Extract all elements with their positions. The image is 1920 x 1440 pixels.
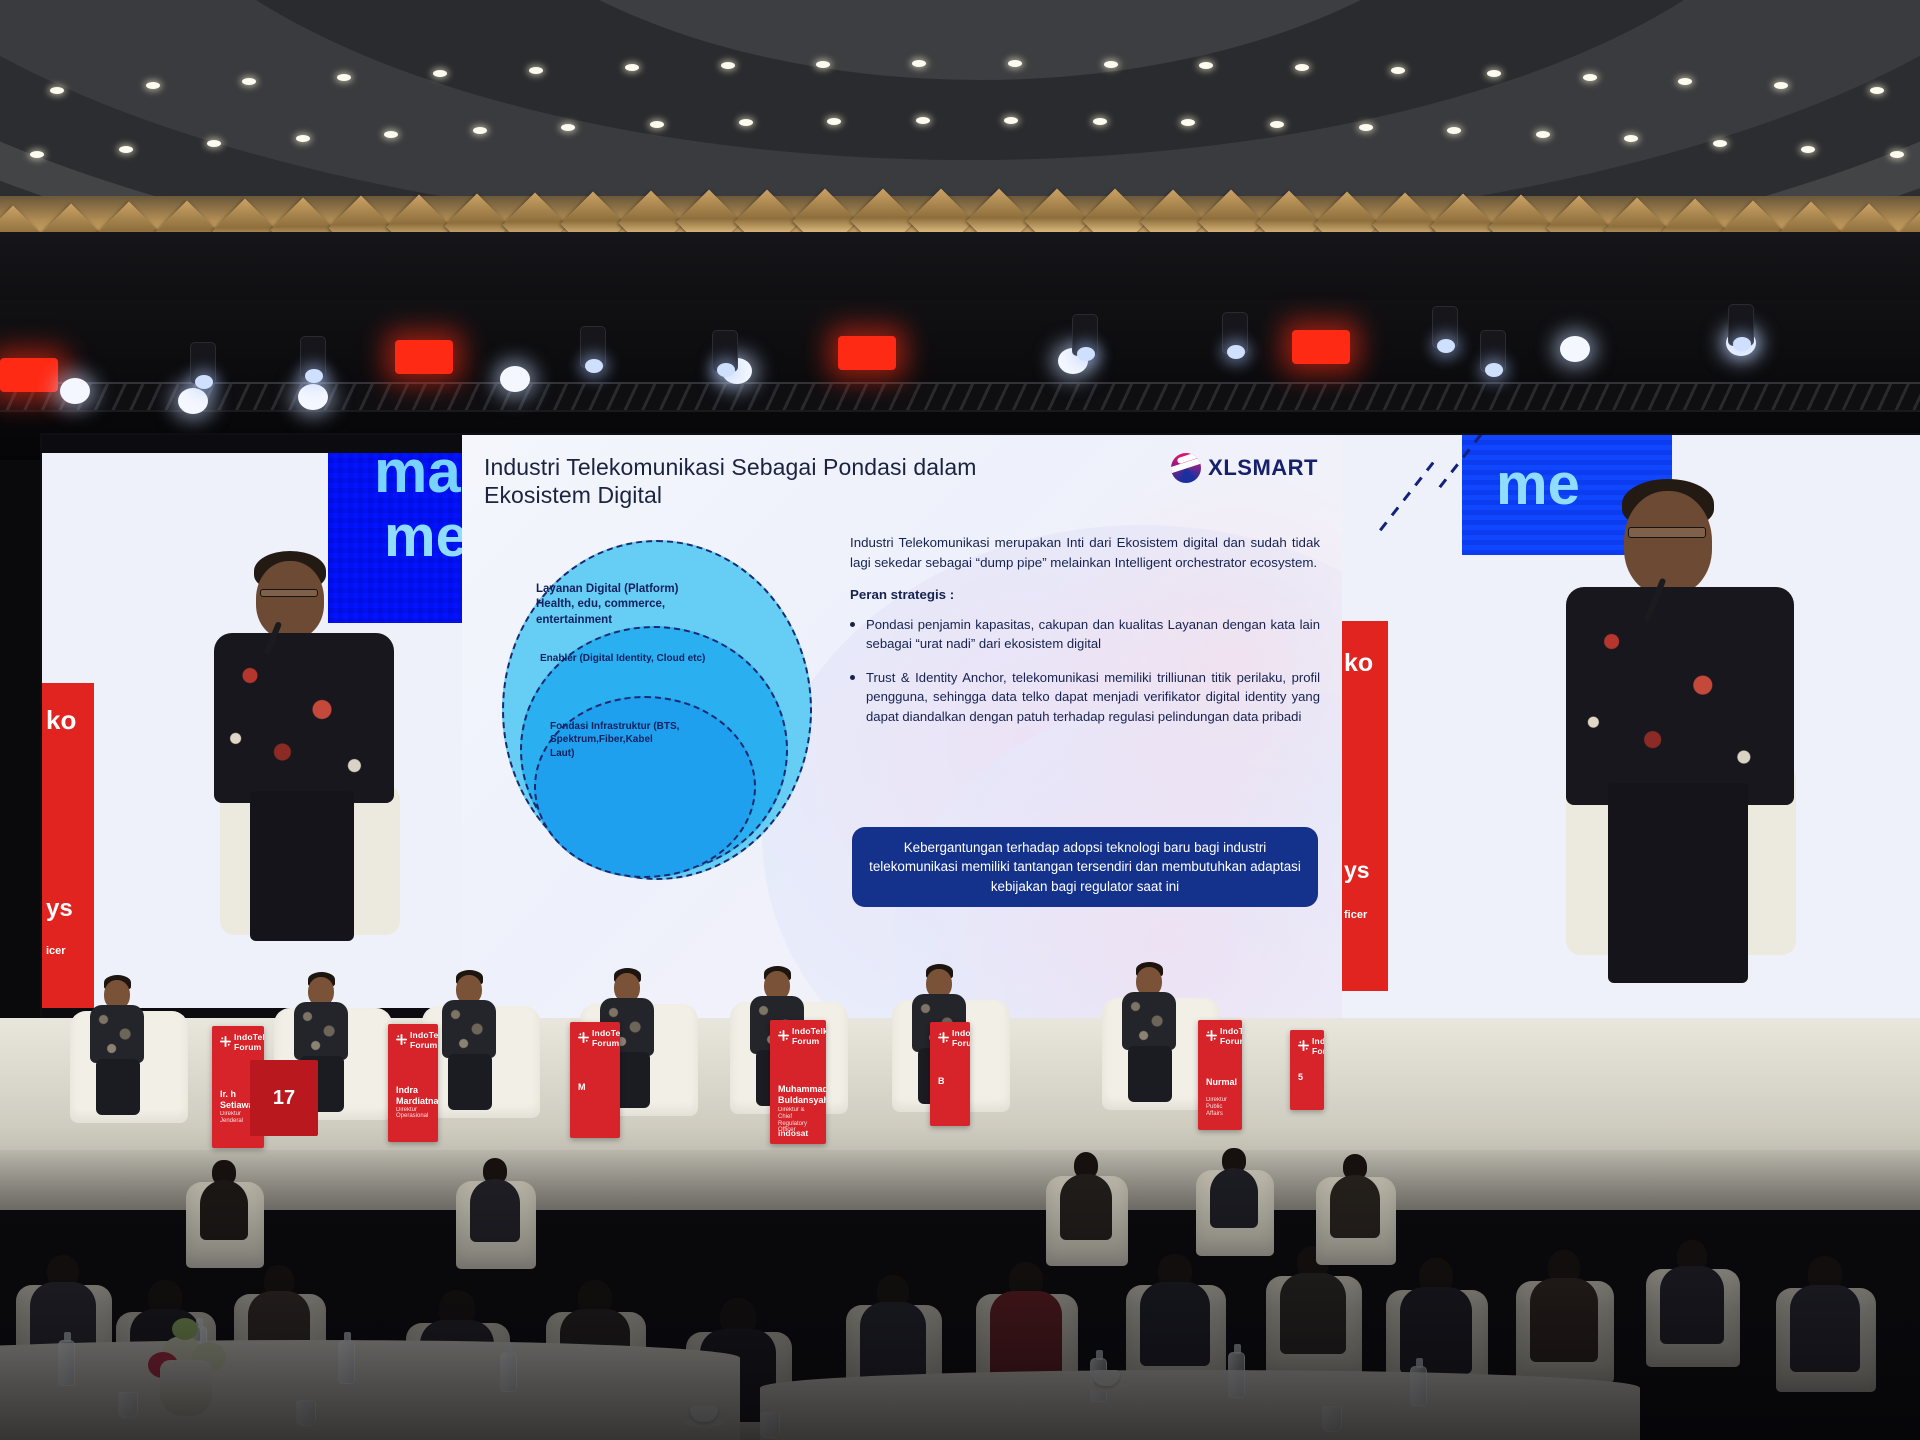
xlsmart-logo-text: XLSMART [1208, 455, 1318, 481]
moving-head-light [1072, 314, 1098, 356]
ceiling-downlight [529, 67, 543, 74]
bullet-dot-icon [850, 622, 855, 627]
par-can-white-light [298, 384, 328, 410]
foreground-shadow-overlay [0, 1150, 1920, 1440]
ceiling-downlight [625, 64, 639, 71]
par-can-white-light [178, 388, 208, 414]
ceiling-downlight [433, 70, 447, 77]
speaker-trousers [250, 791, 354, 941]
par-can-red-light [395, 340, 453, 374]
led-left-banner-text-1: ko [46, 705, 76, 736]
led-panel-left-camera-feed: ma me ko ys icer [42, 453, 462, 1008]
dashed-line-decor [1377, 462, 1435, 535]
slide-title: Industri Telekomunikasi Sebagai Pondasi … [484, 453, 1074, 509]
moving-head-light [580, 326, 606, 368]
speaker-head [256, 561, 324, 639]
led-left-banner-text-2: ys [46, 895, 73, 923]
indotelko-mark-icon [778, 1028, 789, 1039]
speaker-trousers [1608, 783, 1748, 983]
moving-head-light [1480, 330, 1506, 372]
led-left-banner-text-3: icer [46, 945, 66, 957]
eyeglasses-icon [1628, 527, 1706, 538]
ceiling-downlight [916, 117, 930, 124]
moving-head-light [190, 342, 216, 384]
ceiling-downlight [242, 78, 256, 85]
led-left-red-banner: ko ys icer [42, 683, 94, 1008]
ceiling-downlight [1093, 118, 1107, 125]
led-right-banner-text-3: ficer [1344, 909, 1367, 921]
moving-head-light [300, 336, 326, 378]
ceiling-downlight [1008, 60, 1022, 67]
par-can-white-light [60, 378, 90, 404]
slide-bullet-list: Pondasi penjamin kapasitas, cakupan dan … [850, 615, 1320, 726]
moving-head-light [712, 330, 738, 372]
led-right-red-banner: ko ys ficer [1342, 621, 1388, 991]
slide-bullet-item: Pondasi penjamin kapasitas, cakupan dan … [850, 615, 1320, 653]
presentation-slide: Industri Telekomunikasi Sebagai Pondasi … [462, 435, 1342, 1020]
ceiling-downlight [119, 146, 133, 153]
led-panel-right-camera-feed: me ko ys ficer [1342, 435, 1920, 1020]
ceiling-downlight [1583, 74, 1597, 81]
ceiling-downlight [827, 118, 841, 125]
bullet-dot-icon [850, 675, 855, 680]
xlsmart-logo: XLSMART [1171, 453, 1318, 483]
par-can-red-light [1292, 330, 1350, 364]
lighting-truss [0, 382, 1920, 412]
xlsmart-orb-icon [1171, 453, 1201, 483]
ceiling-downlight [1391, 67, 1405, 74]
ecosystem-concentric-diagram: Layanan Digital (Platform) Health, edu, … [502, 540, 832, 930]
led-video-wall: ma me ko ys icer [42, 435, 1920, 1020]
ceiling-downlight [1104, 61, 1118, 68]
led-left-speaker-figure [192, 533, 452, 1003]
slide-intro-paragraph: Industri Telekomunikasi merupakan Inti d… [850, 533, 1320, 572]
led-right-banner-text-2: ys [1344, 857, 1370, 884]
speaker-batik-shirt [1566, 587, 1794, 805]
ceiling-downlight [1801, 146, 1815, 153]
eyeglasses-icon [260, 589, 318, 597]
ring-mid-label: Enabler (Digital Identity, Cloud etc) [540, 652, 720, 665]
led-right-banner-text-1: ko [1344, 649, 1373, 678]
ceiling-downlight [816, 61, 830, 68]
slide-bullet-item: Trust & Identity Anchor, telekomunikasi … [850, 668, 1320, 725]
speaker-head [1624, 491, 1712, 595]
ring-outer-label: Layanan Digital (Platform) Health, edu, … [536, 582, 716, 628]
led-left-word-1: ma [374, 453, 461, 506]
ceiling-downlight [721, 62, 735, 69]
slide-callout-banner: Kebergantungan terhadap adopsi teknologi… [852, 827, 1318, 907]
moving-head-light [1728, 304, 1754, 346]
ceiling-downlight [1536, 131, 1550, 138]
ring-inner-label: Fondasi Infrastruktur (BTS, Spektrum,Fib… [550, 720, 680, 760]
ceiling-downlight [1487, 70, 1501, 77]
ceiling-downlight [1678, 78, 1692, 85]
conference-hall-photo: ma me ko ys icer [0, 0, 1920, 1440]
par-can-white-light [500, 366, 530, 392]
slide-bullet-text-2: Trust & Identity Anchor, telekomunikasi … [866, 668, 1320, 725]
moving-head-light [1432, 306, 1458, 348]
ceiling-downlight [337, 74, 351, 81]
slide-bullet-text-1: Pondasi penjamin kapasitas, cakupan dan … [866, 615, 1320, 653]
slide-text-column: Industri Telekomunikasi merupakan Inti d… [850, 533, 1320, 741]
led-right-speaker-figure [1532, 465, 1872, 1010]
par-can-white-light [1560, 336, 1590, 362]
ceiling-downlight [739, 119, 753, 126]
slide-section-heading: Peran strategis : [850, 587, 1320, 602]
ceiling-downlight [1359, 124, 1373, 131]
par-can-red-light [0, 358, 58, 392]
moving-head-light [1222, 312, 1248, 354]
par-can-red-light [838, 336, 896, 370]
indotelko-mark-icon [1206, 1028, 1217, 1039]
speaker-batik-shirt [214, 633, 394, 803]
